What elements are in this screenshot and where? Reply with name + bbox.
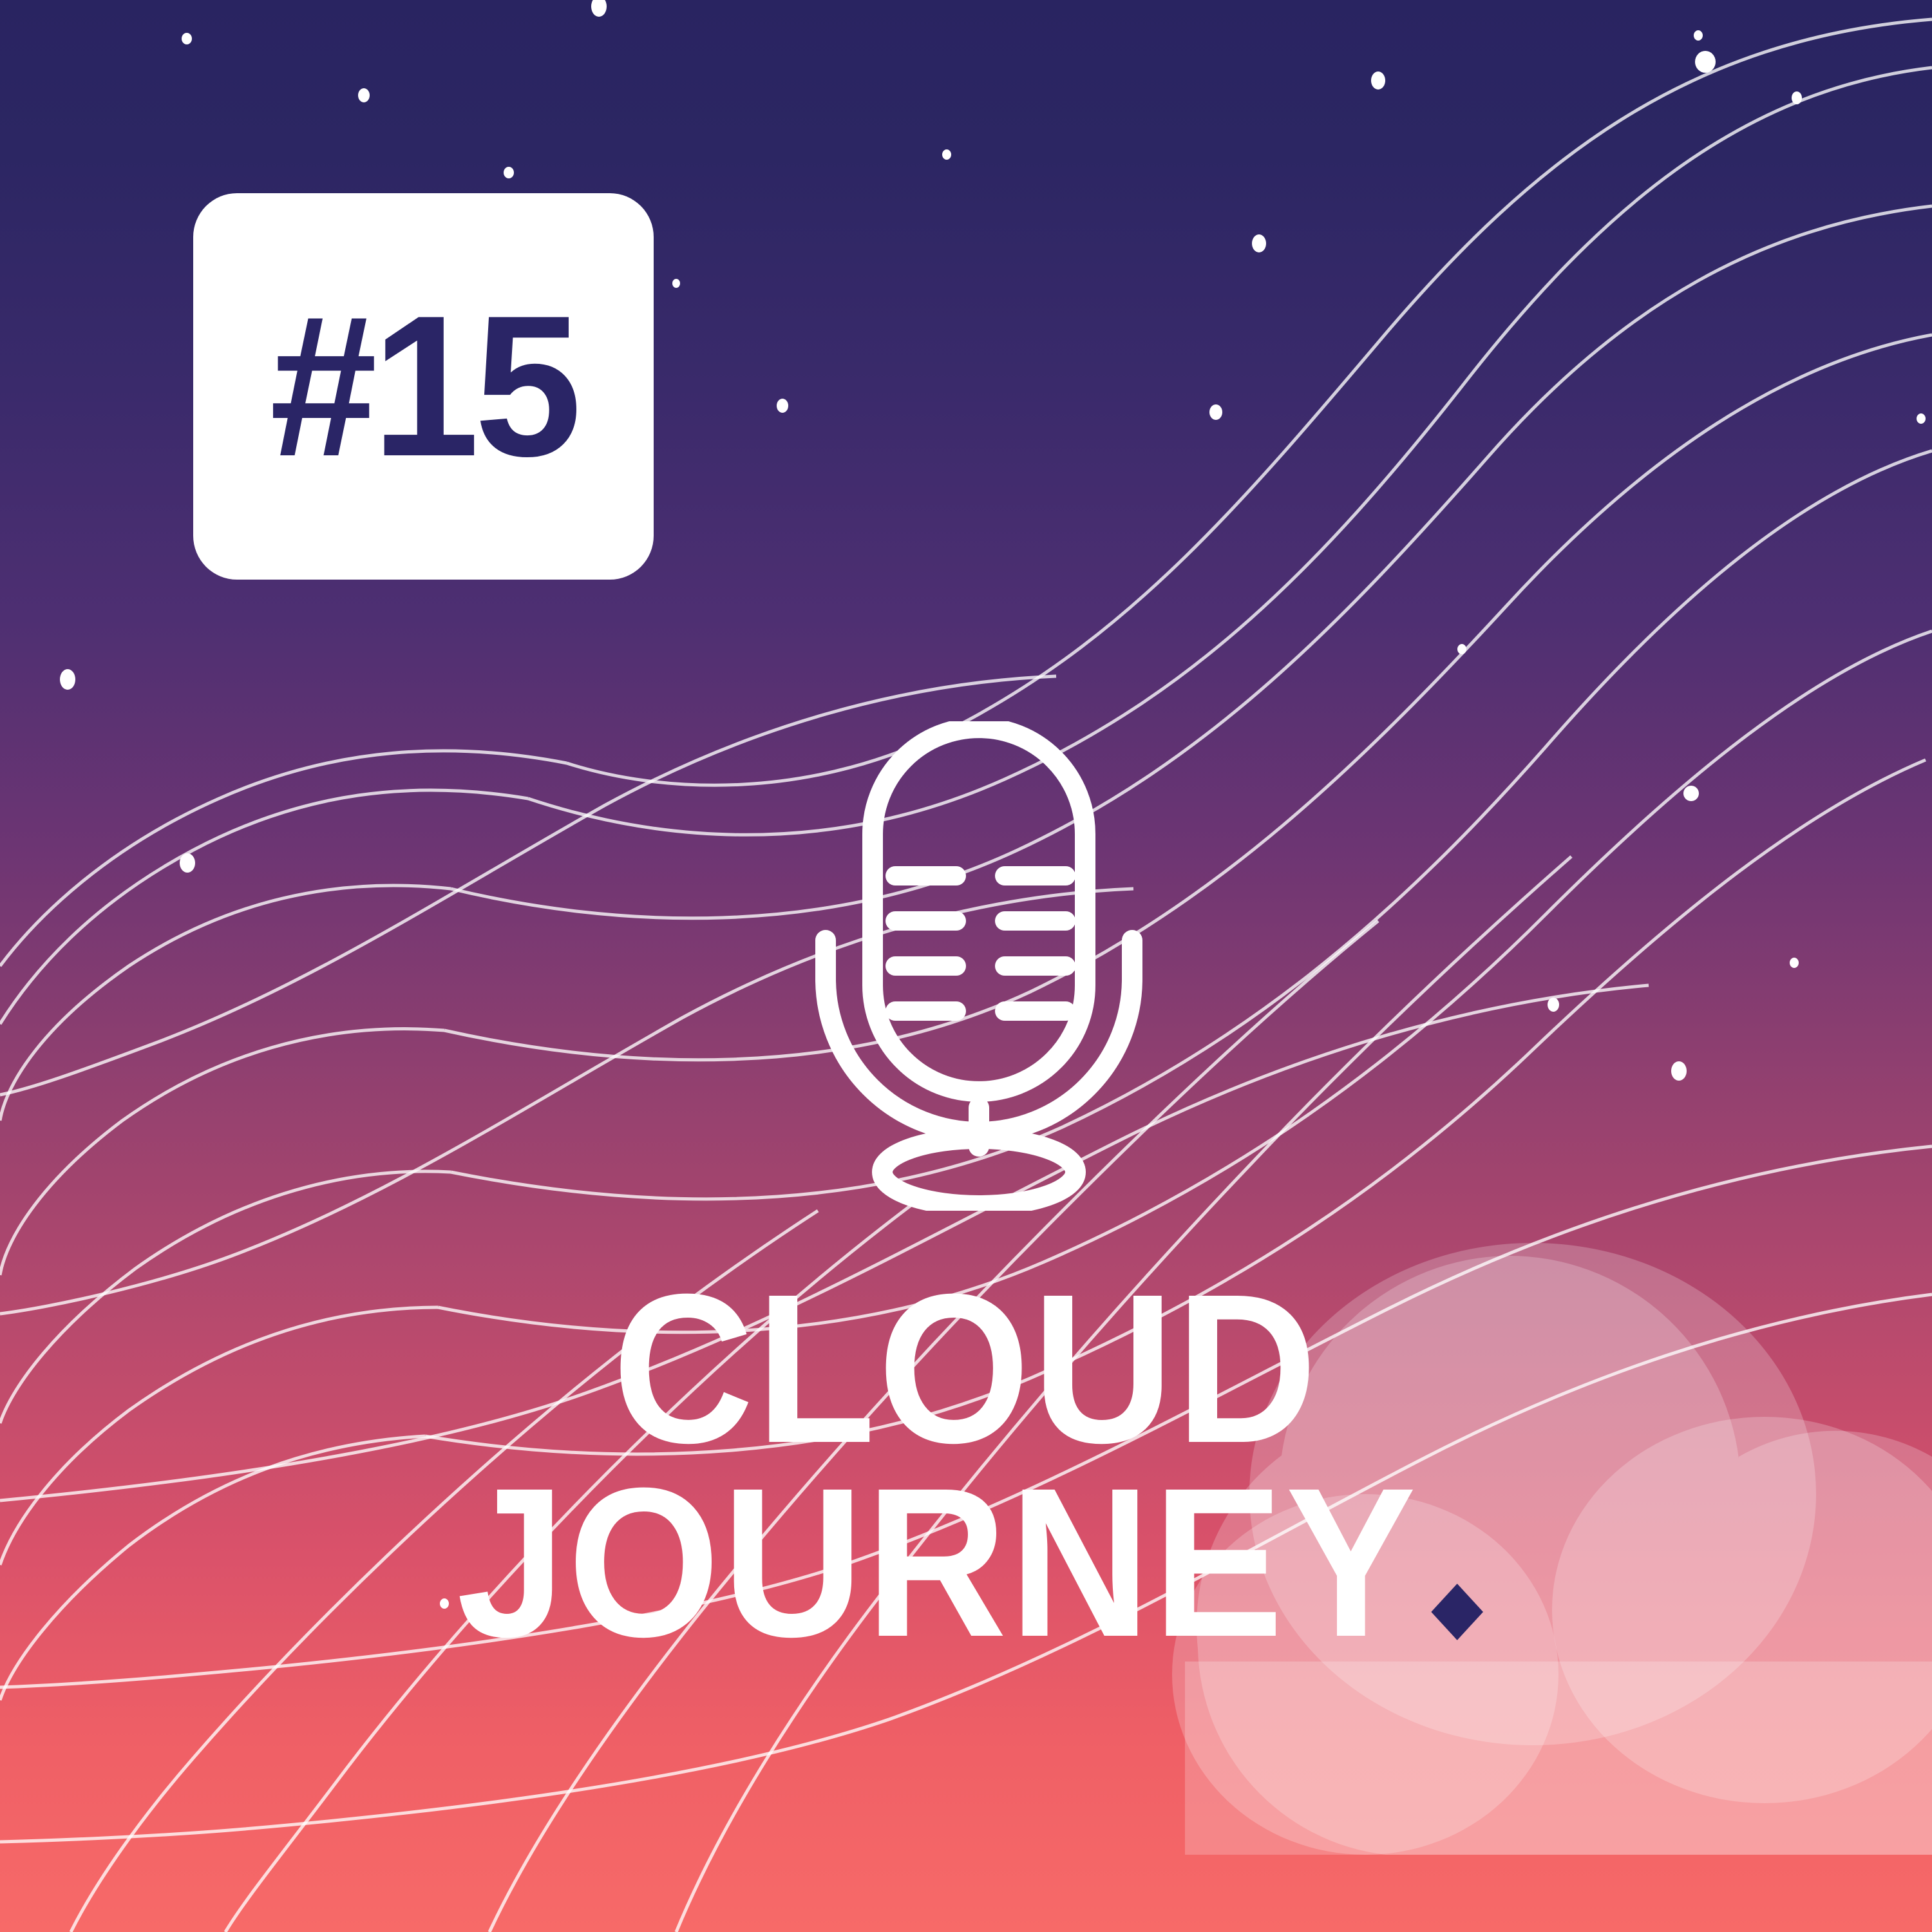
diamond-period-icon xyxy=(1431,1584,1483,1640)
podcast-title: CLOUD JOURNEY xyxy=(0,1282,1932,1649)
episode-number: #15 xyxy=(270,286,577,487)
podcast-cover-art: #15 CLOUD JOURNEY xyxy=(0,0,1932,1932)
episode-badge: #15 xyxy=(193,193,654,580)
title-line-journey: JOURNEY xyxy=(457,1443,1419,1681)
title-line-cloud: CLOUD xyxy=(77,1282,1855,1456)
microphone-icon xyxy=(799,721,1159,1211)
